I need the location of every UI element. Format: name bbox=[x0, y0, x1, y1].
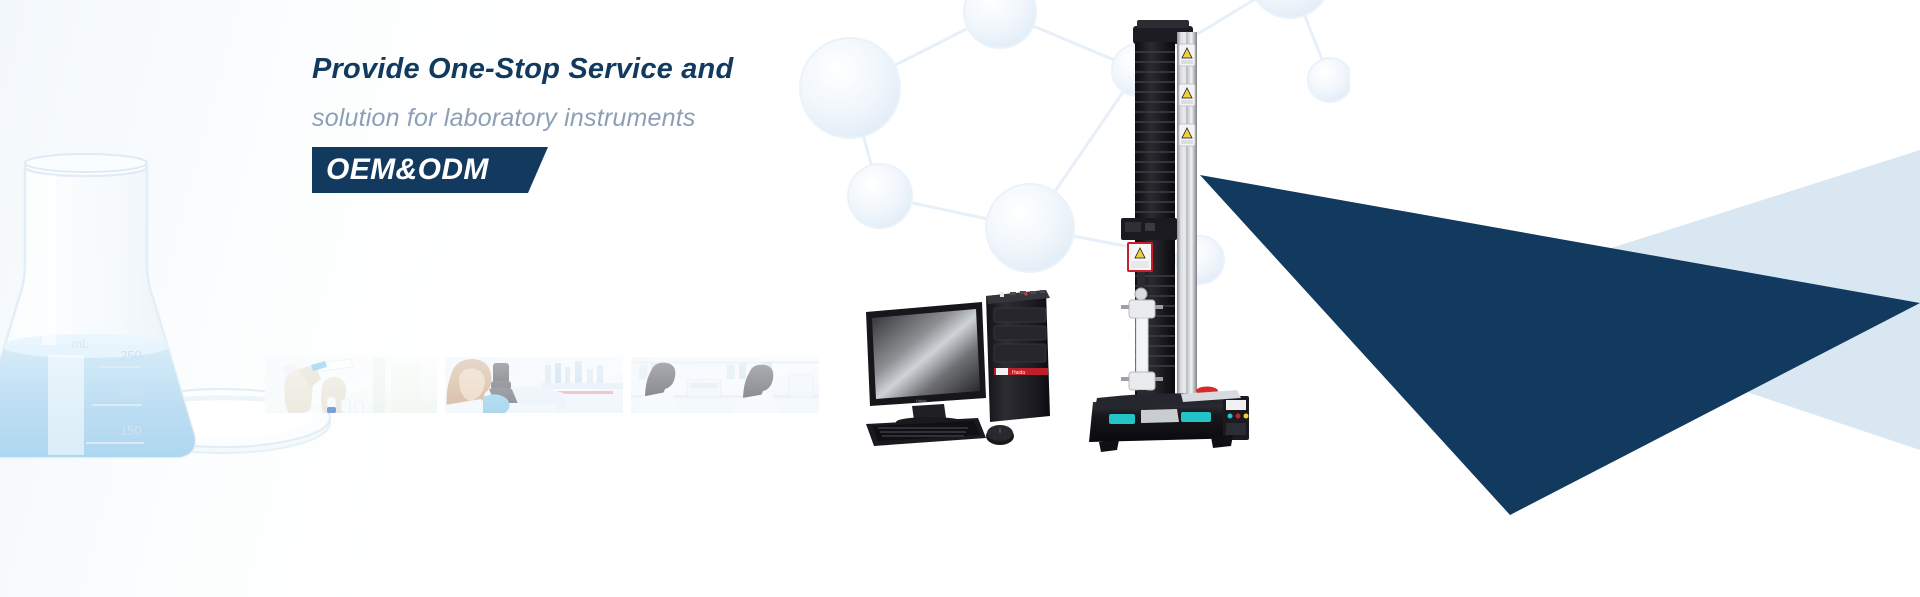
photo-microscope bbox=[445, 357, 623, 413]
photo-lab-bench bbox=[631, 357, 819, 413]
warning-triangle-icon bbox=[1179, 44, 1195, 146]
desktop-computer: Haida bbox=[860, 290, 1060, 450]
subheadline: solution for laboratory instruments bbox=[312, 106, 952, 131]
arrow-left-dark-icon bbox=[1200, 175, 1920, 515]
photo-pipetting bbox=[265, 357, 437, 413]
computer-tower-icon: Haida bbox=[986, 290, 1050, 422]
flask-unit-label: mL bbox=[72, 337, 89, 351]
graduation-200: 200 bbox=[120, 385, 142, 400]
svg-text:Haida: Haida bbox=[916, 398, 927, 403]
graduation-150: 150 bbox=[120, 423, 142, 438]
headline: Provide One-Stop Service and bbox=[312, 55, 952, 84]
promo-banner: 250 200 150 mL Provide One-Stop Service … bbox=[0, 0, 1920, 597]
mouse-icon bbox=[986, 425, 1014, 445]
keyboard-icon bbox=[866, 418, 986, 446]
photo-strip bbox=[265, 357, 819, 413]
oem-odm-badge: OEM&ODM bbox=[312, 147, 515, 193]
svg-text:Haida: Haida bbox=[1012, 370, 1025, 376]
graduation-250: 250 bbox=[120, 348, 142, 363]
badge-label: OEM&ODM bbox=[312, 147, 515, 193]
monitor-icon: Haida bbox=[866, 302, 986, 427]
headline-block: Provide One-Stop Service and solution fo… bbox=[312, 55, 952, 193]
